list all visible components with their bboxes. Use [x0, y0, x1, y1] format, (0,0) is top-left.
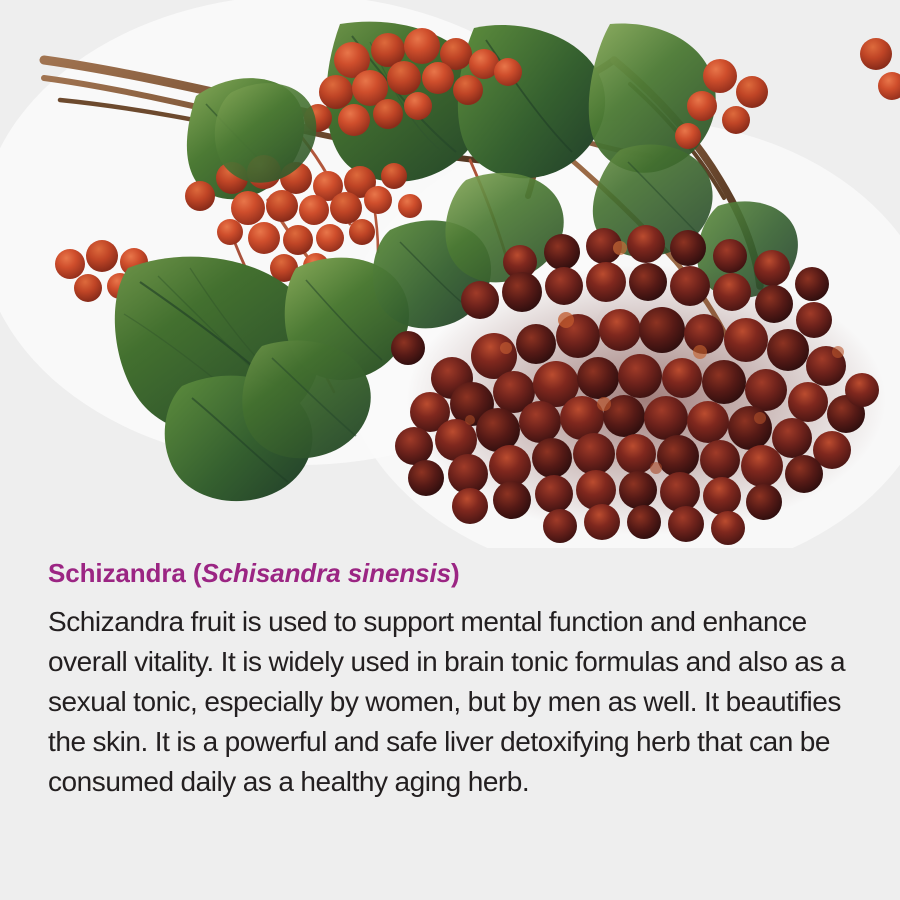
description-text: Schizandra fruit is used to support ment… [48, 590, 873, 802]
common-name: Schizandra [48, 558, 193, 588]
herb-text-block: Schizandra (Schisandra sinensis) Schizan… [48, 556, 878, 802]
page-title: Schizandra (Schisandra sinensis) [48, 556, 878, 590]
close-paren: ) [451, 558, 460, 588]
illustration-svg [0, 0, 900, 548]
herb-info-card: Schizandra (Schisandra sinensis) Schizan… [0, 0, 900, 900]
latin-name: Schisandra sinensis [201, 558, 451, 588]
schizandra-botanical-illustration [0, 0, 900, 548]
